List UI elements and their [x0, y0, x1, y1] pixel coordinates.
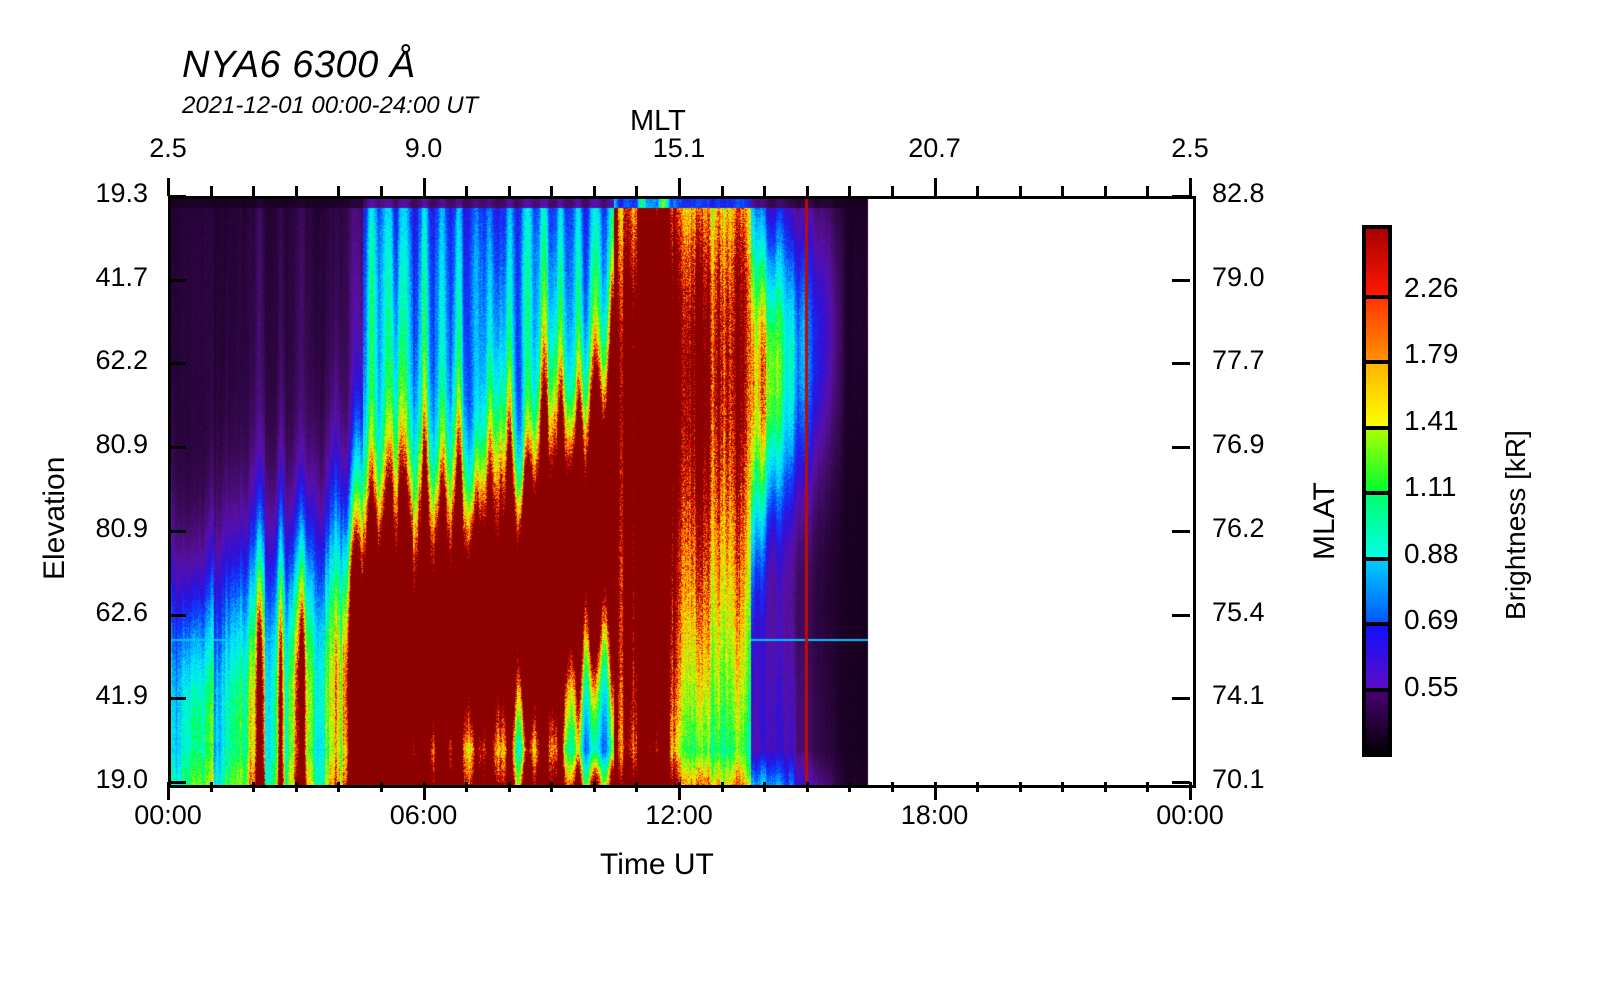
colorbar-tick-label: 1.11 — [1404, 471, 1456, 503]
colorbar-divider — [1366, 557, 1388, 561]
x-minor-tick — [295, 782, 298, 792]
x-major-tick — [678, 782, 681, 800]
x-top-minor-tick — [1146, 186, 1149, 196]
mlt-tick-label: 15.1 — [609, 133, 749, 164]
colorbar-divider — [1366, 295, 1388, 299]
x-top-minor-tick — [508, 186, 511, 196]
mlat-tick-label: 79.0 — [1212, 262, 1362, 293]
colorbar-segment — [1366, 491, 1388, 557]
x-top-minor-tick — [380, 186, 383, 196]
x-tick-label: 12:00 — [609, 800, 749, 831]
mlat-tick-label: 70.1 — [1212, 764, 1362, 795]
mlt-tick-label: 9.0 — [354, 133, 494, 164]
colorbar-segment — [1366, 622, 1388, 688]
y-right-tick — [1172, 530, 1190, 533]
elevation-tick-label: 80.9 — [0, 429, 148, 460]
x-minor-tick — [1146, 782, 1149, 792]
x-minor-tick — [806, 782, 809, 792]
x-top-major-tick — [167, 178, 170, 196]
x-minor-tick — [1019, 782, 1022, 792]
y-left-tick — [168, 279, 186, 282]
y-left-tick — [168, 446, 186, 449]
x-top-minor-tick — [252, 186, 255, 196]
x-minor-tick — [252, 782, 255, 792]
x-tick-label: 06:00 — [354, 800, 494, 831]
x-top-minor-tick — [763, 186, 766, 196]
elevation-tick-label: 62.2 — [0, 345, 148, 376]
right-axis-title: MLAT — [1308, 482, 1342, 560]
x-top-minor-tick — [465, 186, 468, 196]
keogram-image-wrap — [171, 199, 1193, 785]
x-top-minor-tick — [550, 186, 553, 196]
x-minor-tick — [337, 782, 340, 792]
x-tick-label: 00:00 — [1120, 800, 1260, 831]
mlat-tick-label: 77.7 — [1212, 345, 1362, 376]
x-tick-label: 00:00 — [98, 800, 238, 831]
x-minor-tick — [380, 782, 383, 792]
colorbar-tick-label: 0.88 — [1404, 538, 1459, 570]
x-major-tick — [423, 782, 426, 800]
colorbar-divider — [1366, 622, 1388, 626]
x-minor-tick — [891, 782, 894, 792]
colorbar-segment — [1366, 557, 1388, 623]
x-minor-tick — [210, 782, 213, 792]
colorbar-segment — [1366, 295, 1388, 361]
elevation-tick-label: 41.7 — [0, 262, 148, 293]
mlt-tick-label: 2.5 — [98, 133, 238, 164]
y-right-tick — [1172, 614, 1190, 617]
x-top-major-tick — [423, 178, 426, 196]
y-left-tick — [168, 614, 186, 617]
x-minor-tick — [976, 782, 979, 792]
colorbar-tick-label: 2.26 — [1404, 272, 1459, 304]
elevation-tick-label: 19.0 — [0, 764, 148, 795]
x-top-minor-tick — [295, 186, 298, 196]
x-tick-label: 18:00 — [865, 800, 1005, 831]
x-minor-tick — [593, 782, 596, 792]
page-subtitle: 2021-12-01 00:00-24:00 UT — [182, 92, 478, 120]
y-right-tick — [1172, 279, 1190, 282]
x-major-tick — [167, 782, 170, 800]
mlt-tick-label: 2.5 — [1120, 133, 1260, 164]
plot-area — [168, 196, 1196, 788]
colorbar-segment — [1366, 688, 1388, 754]
x-top-minor-tick — [337, 186, 340, 196]
colorbar-divider — [1366, 360, 1388, 364]
colorbar-tick-label: 0.55 — [1404, 671, 1459, 703]
bottom-axis-title: Time UT — [600, 848, 714, 882]
x-top-minor-tick — [210, 186, 213, 196]
x-major-tick — [934, 782, 937, 800]
x-top-minor-tick — [1019, 186, 1022, 196]
mlat-tick-label: 74.1 — [1212, 680, 1362, 711]
x-minor-tick — [763, 782, 766, 792]
colorbar-tick-label: 0.69 — [1404, 604, 1459, 636]
colorbar-segment — [1366, 426, 1388, 492]
y-right-tick — [1172, 446, 1190, 449]
x-top-major-tick — [678, 178, 681, 196]
colorbar-segment — [1366, 229, 1388, 295]
y-right-tick — [1172, 781, 1190, 784]
mlat-tick-label: 82.8 — [1212, 178, 1362, 209]
x-top-minor-tick — [1104, 186, 1107, 196]
x-top-minor-tick — [891, 186, 894, 196]
x-top-major-tick — [934, 178, 937, 196]
y-left-tick — [168, 195, 186, 198]
x-minor-tick — [508, 782, 511, 792]
x-minor-tick — [848, 782, 851, 792]
x-major-tick — [1189, 782, 1192, 800]
x-minor-tick — [1104, 782, 1107, 792]
x-minor-tick — [721, 782, 724, 792]
elevation-tick-label: 62.6 — [0, 597, 148, 628]
y-right-tick — [1172, 697, 1190, 700]
x-top-major-tick — [1189, 178, 1192, 196]
mlat-tick-label: 75.4 — [1212, 597, 1362, 628]
x-minor-tick — [635, 782, 638, 792]
colorbar-divider — [1366, 491, 1388, 495]
colorbar-segment — [1366, 360, 1388, 426]
y-right-tick — [1172, 362, 1190, 365]
colorbar-divider — [1366, 426, 1388, 430]
elevation-tick-label: 19.3 — [0, 178, 148, 209]
colorbar-tick-label: 1.79 — [1404, 338, 1459, 370]
x-top-minor-tick — [635, 186, 638, 196]
x-top-minor-tick — [721, 186, 724, 196]
y-left-tick — [168, 781, 186, 784]
x-top-minor-tick — [806, 186, 809, 196]
colorbar-divider — [1366, 688, 1388, 692]
keogram-figure: NYA6 6300 Å 2021-12-01 00:00-24:00 UT ML… — [0, 0, 1600, 1000]
x-top-minor-tick — [593, 186, 596, 196]
x-top-minor-tick — [976, 186, 979, 196]
x-minor-tick — [550, 782, 553, 792]
x-minor-tick — [1061, 782, 1064, 792]
colorbar — [1362, 225, 1392, 757]
y-right-tick — [1172, 195, 1190, 198]
x-top-minor-tick — [1061, 186, 1064, 196]
y-left-tick — [168, 362, 186, 365]
y-left-tick — [168, 530, 186, 533]
keogram-image — [171, 199, 1193, 785]
colorbar-title: Brightness [kR] — [1500, 430, 1532, 620]
page-title: NYA6 6300 Å — [182, 44, 416, 87]
elevation-tick-label: 80.9 — [0, 513, 148, 544]
y-left-tick — [168, 697, 186, 700]
x-minor-tick — [465, 782, 468, 792]
colorbar-tick-label: 1.41 — [1404, 405, 1459, 437]
mlat-tick-label: 76.9 — [1212, 429, 1362, 460]
left-axis-title: Elevation — [38, 457, 72, 580]
elevation-tick-label: 41.9 — [0, 680, 148, 711]
mlt-tick-label: 20.7 — [865, 133, 1005, 164]
x-top-minor-tick — [848, 186, 851, 196]
